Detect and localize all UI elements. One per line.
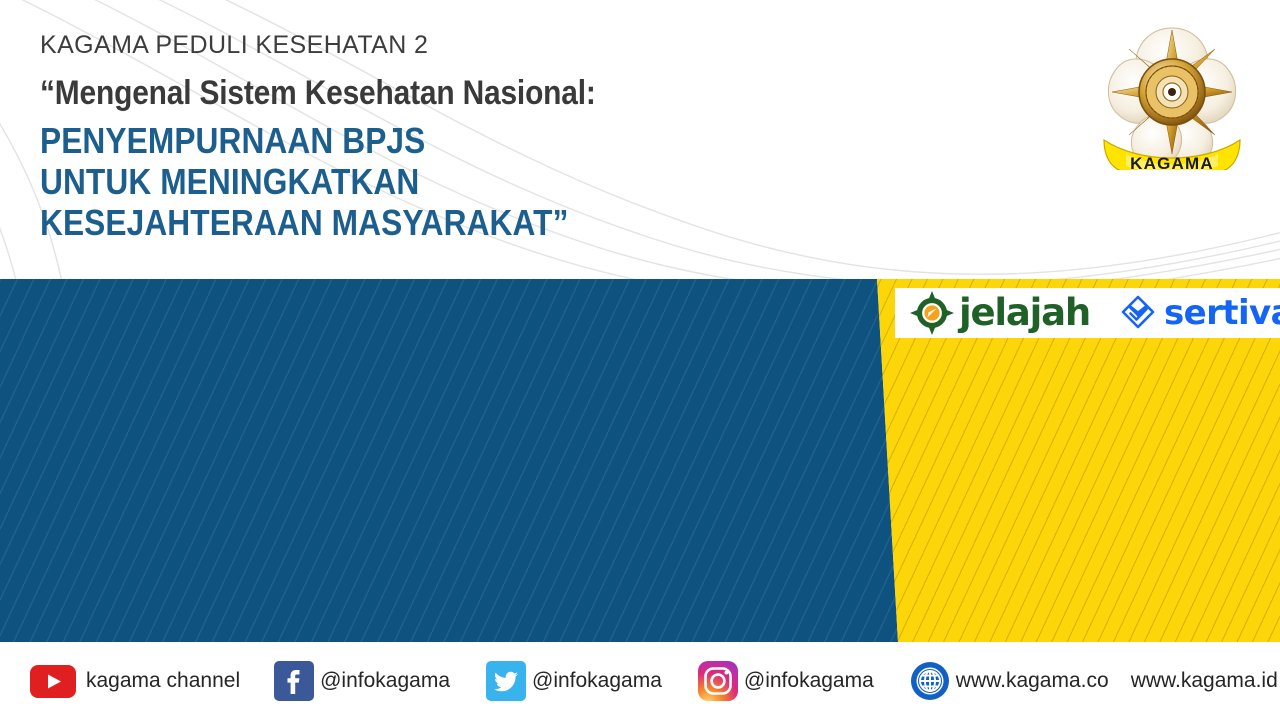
compass-icon xyxy=(909,290,955,336)
sponsor-logo-sertiva[interactable]: sertiva xyxy=(1118,293,1280,333)
youtube-icon xyxy=(30,665,76,698)
social-link-facebook[interactable]: @infokagama xyxy=(274,642,450,720)
social-link-instagram[interactable]: @infokagama xyxy=(698,642,874,720)
social-link-website-id[interactable]: www.kagama.id xyxy=(1131,642,1278,720)
social-label-youtube: kagama channel xyxy=(86,669,240,693)
sponsor-logo-jelajah[interactable]: jelajah xyxy=(909,290,1090,336)
social-label-website-co: www.kagama.co xyxy=(956,669,1109,693)
logo-medallion xyxy=(1139,59,1205,125)
sponsor-strip: jelajah sertiva xyxy=(895,288,1280,338)
social-link-twitter[interactable]: @infokagama xyxy=(486,642,662,720)
logo-ribbon-text: KAGAMA xyxy=(1130,154,1214,170)
sponsor-label-jelajah: jelajah xyxy=(959,291,1090,334)
headline-line-3: KESEJAHTERAAN MASYARAKAT” xyxy=(40,202,832,243)
header-band: KAGAMA PEDULI KESEHATAN 2 “Mengenal Sist… xyxy=(0,0,1280,279)
social-links-row: kagama channel @infokagama @infokagama xyxy=(0,642,1280,720)
social-link-website-co[interactable]: www.kagama.co xyxy=(910,642,1109,720)
social-label-instagram: @infokagama xyxy=(744,669,874,693)
social-label-website-id: www.kagama.id xyxy=(1131,669,1278,693)
instagram-icon xyxy=(698,661,738,701)
slide-canvas: KAGAMA PEDULI KESEHATAN 2 “Mengenal Sist… xyxy=(0,0,1280,720)
social-link-youtube[interactable]: kagama channel xyxy=(30,642,240,720)
sponsor-label-sertiva: sertiva xyxy=(1164,293,1280,333)
event-kicker: KAGAMA PEDULI KESEHATAN 2 xyxy=(40,30,940,60)
title-block: KAGAMA PEDULI KESEHATAN 2 “Mengenal Sist… xyxy=(40,30,940,243)
social-label-twitter: @infokagama xyxy=(532,669,662,693)
social-label-facebook: @infokagama xyxy=(320,669,450,693)
twitter-icon xyxy=(486,661,526,701)
diamond-check-icon xyxy=(1118,293,1158,333)
footer-band: kagama channel @infokagama @infokagama xyxy=(0,642,1280,720)
headline-line-2: UNTUK MENINGKATKAN xyxy=(40,161,832,202)
kagama-logo: KAGAMA xyxy=(1096,14,1248,170)
globe-icon xyxy=(910,661,950,701)
headline-line-1: PENYEMPURNAAN BPJS xyxy=(40,120,832,161)
headline-quote-line: “Mengenal Sistem Kesehatan Nasional: xyxy=(40,73,832,114)
facebook-icon xyxy=(274,661,314,701)
